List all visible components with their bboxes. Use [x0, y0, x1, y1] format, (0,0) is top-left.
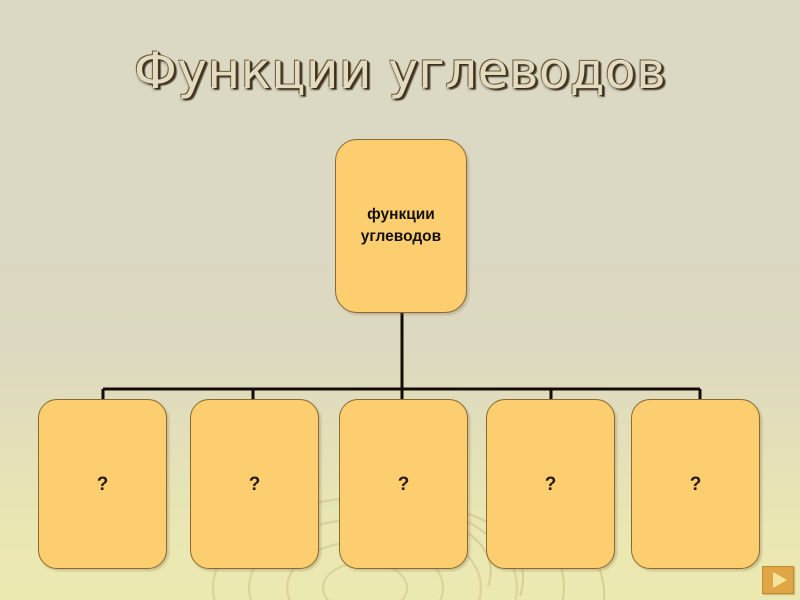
- next-slide-button[interactable]: [762, 566, 794, 594]
- diagram-node-root[interactable]: функции углеводов: [335, 139, 467, 313]
- page-title: Функции углеводов: [0, 42, 800, 100]
- diagram-node-child-2-label: ?: [249, 475, 261, 494]
- diagram-node-child-5[interactable]: ?: [631, 399, 760, 569]
- play-triangle-icon: [773, 572, 787, 588]
- diagram-node-child-2[interactable]: ?: [190, 399, 319, 569]
- diagram-node-child-5-label: ?: [690, 475, 702, 494]
- diagram-node-child-3[interactable]: ?: [339, 399, 468, 569]
- diagram-node-child-3-label: ?: [398, 475, 410, 494]
- diagram-node-child-1-label: ?: [97, 475, 109, 494]
- diagram-node-child-4[interactable]: ?: [486, 399, 615, 569]
- diagram-node-child-1[interactable]: ?: [38, 399, 167, 569]
- diagram-node-child-4-label: ?: [545, 475, 557, 494]
- slide-canvas: Функции углеводов функции углеводов ? ? …: [0, 0, 800, 600]
- diagram-node-root-label: функции углеводов: [355, 204, 447, 249]
